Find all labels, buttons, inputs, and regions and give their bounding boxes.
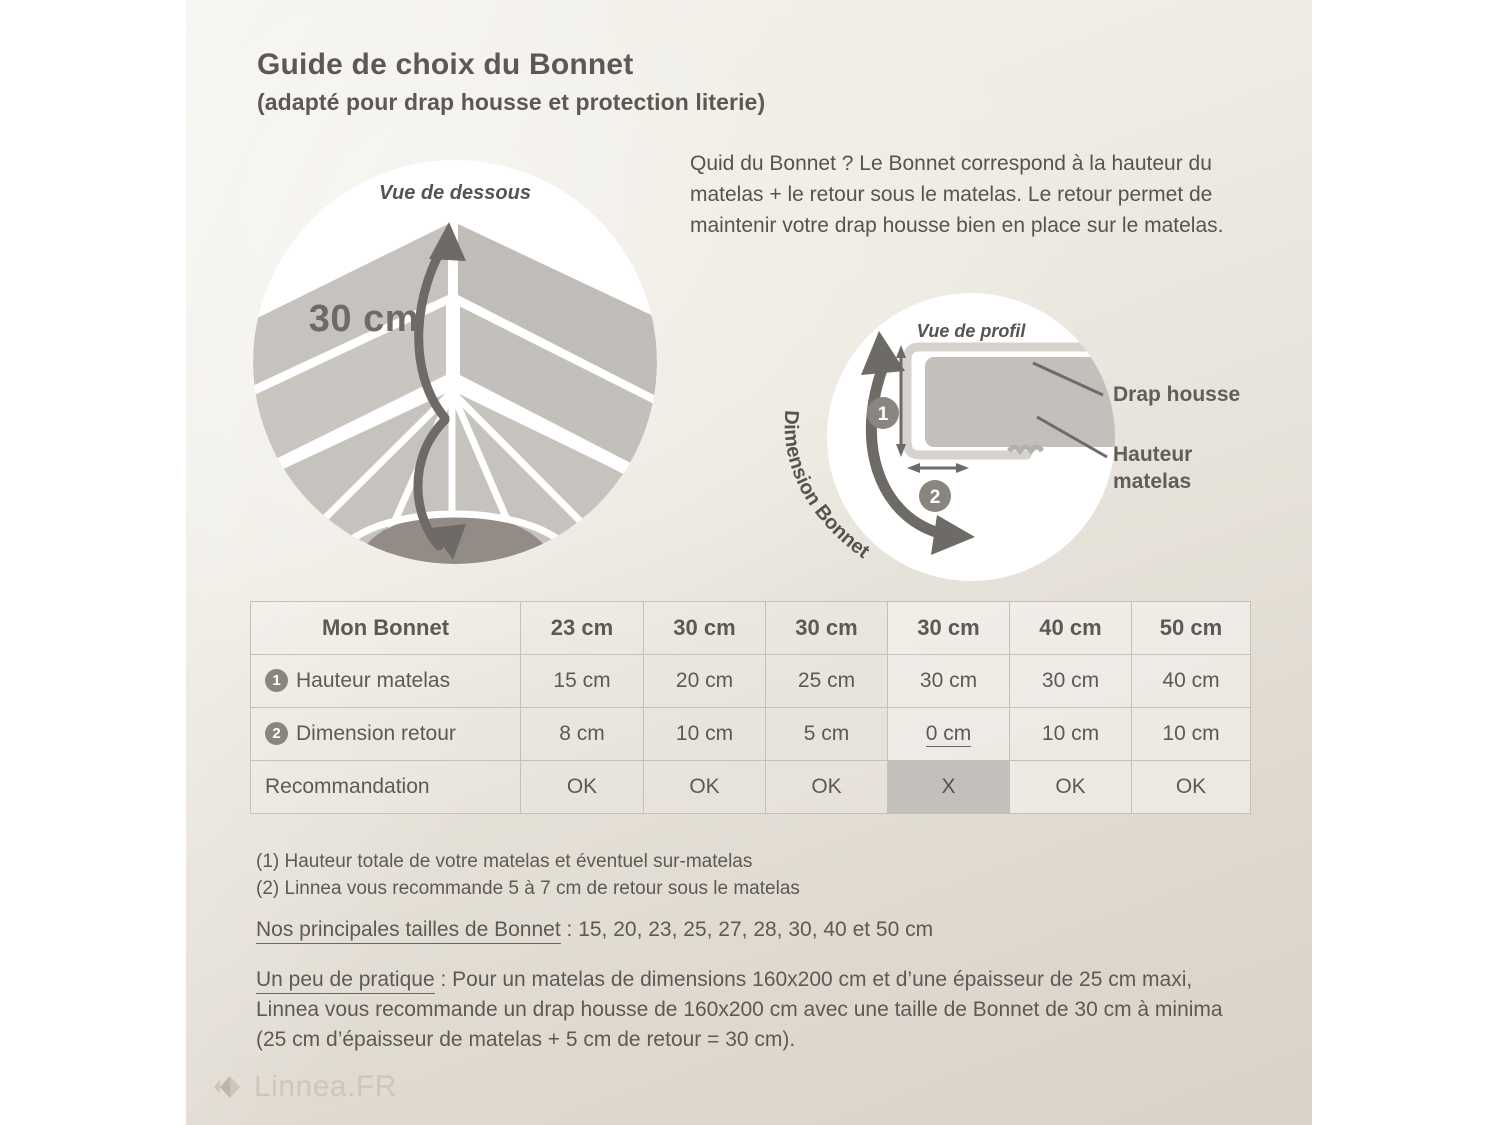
table-cell: 20 cm [644, 655, 766, 708]
table-cell: 30 cm [888, 655, 1010, 708]
callout-hauteur-matelas: Hauteur matelas [1113, 441, 1192, 495]
footnotes: (1) Hauteur totale de votre matelas et é… [256, 848, 800, 902]
brand-logo[interactable]: Linnea.FR [213, 1070, 397, 1104]
table-row: 1Hauteur matelas15 cm20 cm25 cm30 cm30 c… [251, 655, 1251, 708]
cell-underlined-value: 0 cm [926, 722, 972, 747]
table-cell: 23 cm [521, 602, 644, 655]
bottom-view-illustration [253, 160, 657, 564]
table-cell: 30 cm [644, 602, 766, 655]
sizes-label: Nos principales tailles de Bonnet [256, 918, 561, 944]
table-row-label: 2Dimension retour [251, 708, 521, 761]
table-cell: 8 cm [521, 708, 644, 761]
svg-text:Dimension Bonnet: Dimension Bonnet [779, 410, 873, 564]
table-cell: OK [644, 761, 766, 814]
row-label-text: Dimension retour [296, 722, 456, 746]
table-row: RecommandationOKOKOKXOKOK [251, 761, 1251, 814]
table-cell: 30 cm [766, 602, 888, 655]
row-label-text: Hauteur matelas [296, 669, 450, 693]
table-cell: 25 cm [766, 655, 888, 708]
row-label-text: Mon Bonnet [322, 615, 449, 641]
infographic-page: Guide de choix du Bonnet (adapté pour dr… [0, 0, 1500, 1125]
page-title-block: Guide de choix du Bonnet (adapté pour dr… [257, 48, 1077, 116]
table-row-label: Mon Bonnet [251, 602, 521, 655]
table-cell: 10 cm [1132, 708, 1251, 761]
page-title: Guide de choix du Bonnet [257, 48, 1077, 82]
page-subtitle: (adapté pour drap housse et protection l… [257, 89, 1077, 116]
table-cell: X [888, 761, 1010, 814]
callout-hauteur-line1: Hauteur [1113, 443, 1192, 466]
table-cell: OK [521, 761, 644, 814]
table-cell: 0 cm [888, 708, 1010, 761]
table-cell: 30 cm [1010, 655, 1132, 708]
table-cell: 40 cm [1132, 655, 1251, 708]
practice-paragraph: Un peu de pratique : Pour un matelas de … [256, 965, 1256, 1055]
bottom-view-diagram: Vue de dessous [253, 160, 657, 564]
intro-paragraph: Quid du Bonnet ? Le Bonnet correspond à … [690, 148, 1270, 241]
table-cell: 50 cm [1132, 602, 1251, 655]
row-badge-1: 1 [265, 669, 288, 692]
callout-hauteur-line2: matelas [1113, 470, 1191, 493]
practice-label: Un peu de pratique [256, 968, 435, 994]
sizes-line: Nos principales tailles de Bonnet : 15, … [256, 918, 933, 942]
callout-drap-housse: Drap housse [1113, 381, 1240, 408]
table-cell: 40 cm [1010, 602, 1132, 655]
table-cell: 15 cm [521, 655, 644, 708]
row-badge-2: 2 [265, 722, 288, 745]
table-row-label: Recommandation [251, 761, 521, 814]
bonnet-table: Mon Bonnet23 cm30 cm30 cm30 cm40 cm50 cm… [250, 601, 1251, 814]
sizes-value: : 15, 20, 23, 25, 27, 28, 30, 40 et 50 c… [561, 918, 933, 941]
brand-logo-text: Linnea.FR [254, 1070, 397, 1104]
footnote-1: (1) Hauteur totale de votre matelas et é… [256, 848, 800, 875]
table-cell: 10 cm [1010, 708, 1132, 761]
table-row: 2Dimension retour8 cm10 cm5 cm0 cm10 cm1… [251, 708, 1251, 761]
footnote-2: (2) Linnea vous recommande 5 à 7 cm de r… [256, 875, 800, 902]
table-cell: OK [766, 761, 888, 814]
bottom-view-label: Vue de dessous [253, 182, 657, 205]
table-cell: 10 cm [644, 708, 766, 761]
diamond-logo-icon [213, 1074, 243, 1100]
table-row-label: 1Hauteur matelas [251, 655, 521, 708]
bonnet-dimension-label: Dimension Bonnet [770, 390, 990, 580]
table-cell: 5 cm [766, 708, 888, 761]
table-cell: OK [1010, 761, 1132, 814]
profile-view-label: Vue de profil [827, 321, 1115, 342]
row-label-text: Recommandation [265, 775, 430, 799]
table-cell: 30 cm [888, 602, 1010, 655]
bonnet-dimension-text: Dimension Bonnet [779, 410, 873, 564]
table-cell: OK [1132, 761, 1251, 814]
bottom-view-measure: 30 cm [259, 298, 419, 341]
table-row: Mon Bonnet23 cm30 cm30 cm30 cm40 cm50 cm [251, 602, 1251, 655]
